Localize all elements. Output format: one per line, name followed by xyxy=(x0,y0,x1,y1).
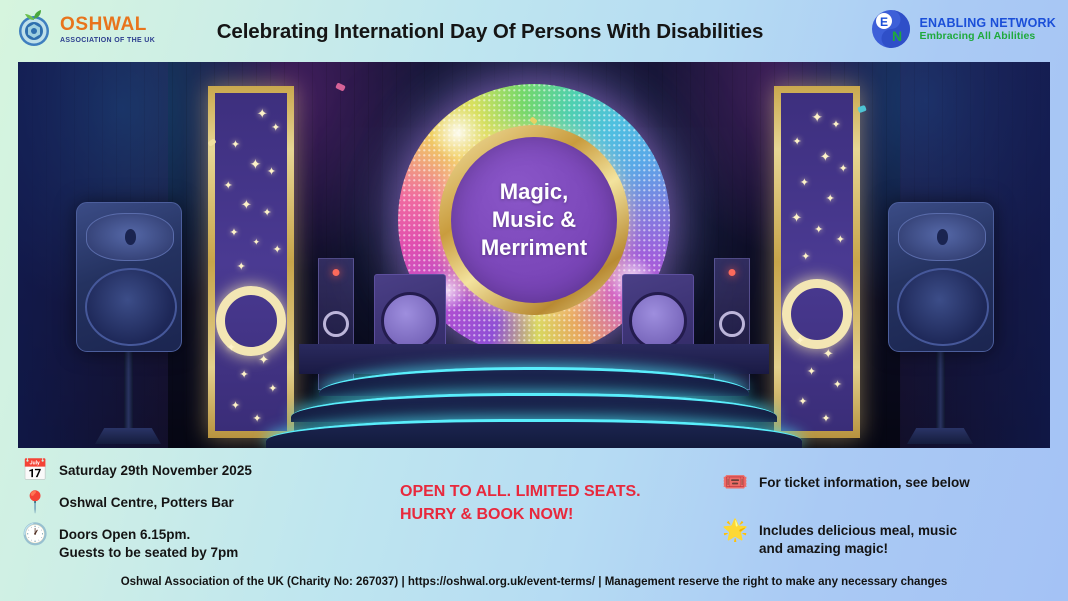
detail-includes-text: Includes delicious meal, music and amazi… xyxy=(759,520,957,558)
right-speaker-woofer xyxy=(897,268,988,346)
headline-line-2: Music & xyxy=(492,206,576,234)
detail-times-text: Doors Open 6.15pm. Guests to be seated b… xyxy=(59,524,238,562)
left-speaker-woofer xyxy=(85,268,176,346)
enabling-network-name: ENABLING NETWORK xyxy=(919,16,1056,30)
disco-headline: Magic, Music & Merriment xyxy=(451,137,617,303)
right-speaker xyxy=(888,202,992,444)
detail-tickets-text: For ticket information, see below xyxy=(759,472,970,492)
stage-platform xyxy=(269,370,799,448)
svg-text:N: N xyxy=(892,28,902,44)
headline-line-3: Merriment xyxy=(481,234,587,262)
event-details: 📅 Saturday 29th November 2025 📍 Oshwal C… xyxy=(0,452,1068,572)
cta-line-1: OPEN TO ALL. LIMITED SEATS. xyxy=(400,480,690,503)
stage-step-middle xyxy=(291,393,777,422)
enabling-network-logo: E N ENABLING NETWORK Embracing All Abili… xyxy=(870,8,1056,50)
oshwal-emblem-icon xyxy=(14,9,54,49)
page-title: Celebrating Internationl Day Of Persons … xyxy=(170,20,810,44)
detail-venue: 📍 Oshwal Centre, Potters Bar xyxy=(22,492,234,513)
right-speaker-stand xyxy=(936,352,945,428)
left-speaker-stand xyxy=(124,352,133,428)
ticket-icon: 🎟️ xyxy=(722,472,746,493)
left-speaker-base xyxy=(95,428,161,444)
right-speaker-cabinet xyxy=(888,202,994,352)
right-speaker-base xyxy=(907,428,973,444)
oshwal-logo-name: OSHWAL xyxy=(60,15,155,34)
detail-date: 📅 Saturday 29th November 2025 xyxy=(22,460,252,481)
headline-line-1: Magic, xyxy=(500,178,568,206)
page-header: OSHWAL ASSOCIATION OF THE UK Celebrating… xyxy=(0,0,1068,58)
detail-tickets: 🎟️ For ticket information, see below xyxy=(722,472,970,493)
detail-includes-line-1: Includes delicious meal, music xyxy=(759,523,957,538)
detail-venue-text: Oshwal Centre, Potters Bar xyxy=(59,492,234,512)
detail-times-line-1: Doors Open 6.15pm. xyxy=(59,527,190,542)
detail-times: 🕐 Doors Open 6.15pm. Guests to be seated… xyxy=(22,524,238,562)
enabling-network-emblem-icon: E N xyxy=(870,8,912,50)
detail-times-line-2: Guests to be seated by 7pm xyxy=(59,545,238,560)
footer-disclaimer: Oshwal Association of the UK (Charity No… xyxy=(0,576,1068,588)
left-speaker-cabinet xyxy=(76,202,182,352)
left-speaker xyxy=(76,202,180,444)
stage-artwork: ✦ ✦ ✦ ✦ ✦ ✦ ✦ ✦ ✦ ✦ ✦ ✦ ✦ ✦ ✦ ✦ ✦ ✦ ✦ ✦ … xyxy=(18,62,1050,448)
right-speaker-tweeter xyxy=(898,213,985,261)
location-pin-icon: 📍 xyxy=(22,492,46,513)
stage-step-bottom xyxy=(266,419,802,448)
call-to-action: OPEN TO ALL. LIMITED SEATS. HURRY & BOOK… xyxy=(400,480,690,526)
stage-step-top xyxy=(319,367,749,396)
detail-includes-line-2: and amazing magic! xyxy=(759,541,888,556)
right-banner-ring xyxy=(782,279,852,349)
detail-includes: 🌟 Includes delicious meal, music and ama… xyxy=(722,520,957,558)
svg-text:E: E xyxy=(880,15,888,29)
calendar-icon: 📅 xyxy=(22,460,46,481)
star-icon: 🌟 xyxy=(722,520,746,541)
left-speaker-tweeter xyxy=(86,213,173,261)
detail-date-text: Saturday 29th November 2025 xyxy=(59,460,252,480)
oshwal-logo: OSHWAL ASSOCIATION OF THE UK xyxy=(14,6,160,52)
clock-icon: 🕐 xyxy=(22,524,46,545)
enabling-network-subtitle: Embracing All Abilities xyxy=(919,30,1056,42)
cta-line-2: HURRY & BOOK NOW! xyxy=(400,503,690,526)
oshwal-logo-subtitle: ASSOCIATION OF THE UK xyxy=(60,37,155,44)
